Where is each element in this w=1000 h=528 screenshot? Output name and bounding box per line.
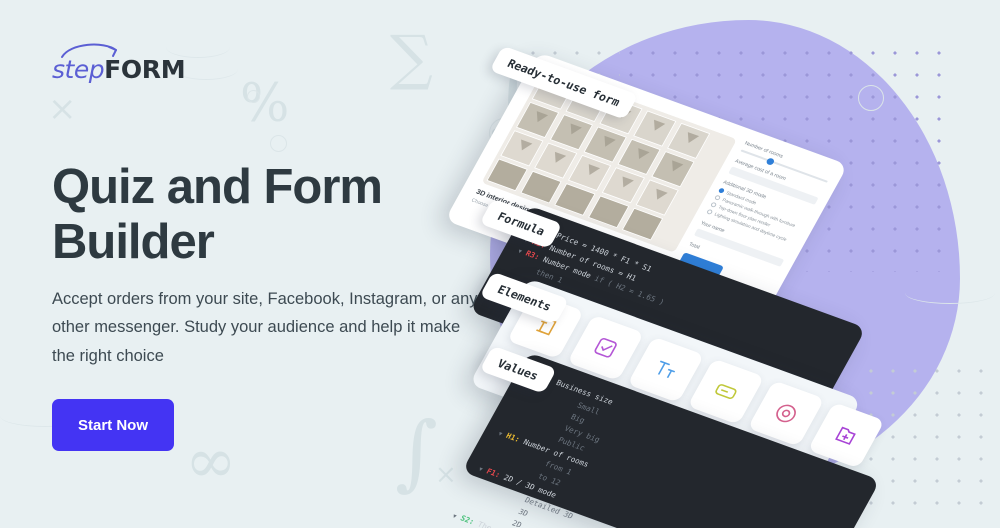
text-format-icon	[649, 355, 683, 384]
hero-description: Accept orders from your site, Facebook, …	[52, 285, 484, 370]
checkmark-icon	[588, 333, 622, 362]
hero-section: ∑ ∫ % × × ∞ ∫ × ′ step FORM Quiz and For…	[0, 0, 1000, 528]
logo[interactable]: step FORM	[52, 52, 185, 82]
radio-dot-icon	[718, 188, 725, 194]
add-file-icon	[829, 421, 863, 450]
product-illustration: 3D interior design visualization Choose …	[520, 0, 1000, 528]
page-title: Quiz and Form Builder	[52, 160, 472, 271]
radio-dot-icon	[706, 209, 713, 215]
radio-dot-icon	[714, 195, 721, 201]
field-icon	[709, 377, 743, 406]
start-now-button[interactable]: Start Now	[52, 399, 174, 451]
logo-form-text: FORM	[104, 57, 185, 82]
radio-dot-icon	[710, 202, 717, 208]
hero-content: step FORM Quiz and Form Builder Accept o…	[52, 0, 522, 528]
code-token: R3:	[524, 249, 541, 262]
logo-step-text: step	[52, 57, 104, 82]
curved-arrow-icon	[60, 41, 122, 59]
radio-circle-icon	[769, 399, 803, 428]
